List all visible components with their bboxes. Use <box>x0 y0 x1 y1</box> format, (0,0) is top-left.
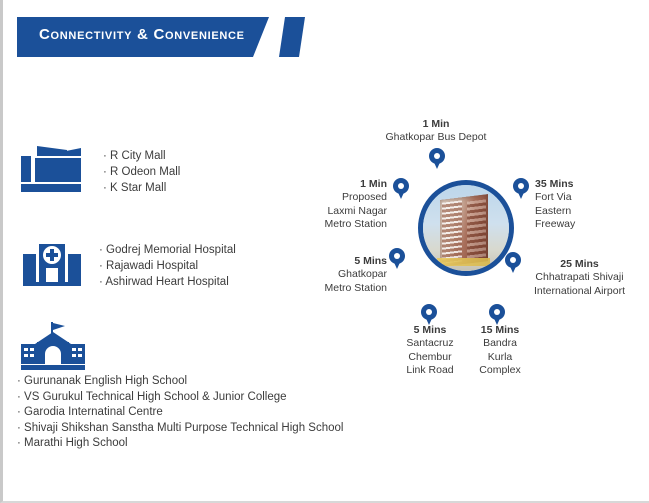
list-item: Gurunanak English High School <box>17 374 343 390</box>
map-pin-santacruz-chembur-link-road[interactable] <box>421 304 437 326</box>
pin-line: Complex <box>459 364 541 377</box>
list-item: Marathi High School <box>17 436 343 452</box>
section-header-banner: Connectivity & Convenience <box>17 17 307 57</box>
pin-line: Laxmi Nagar <box>299 205 387 218</box>
list-item: R Odeon Mall <box>103 164 180 180</box>
banner-accent-chip <box>279 17 305 57</box>
pin-time: 25 Mins <box>507 258 649 271</box>
list-item: VS Gurukul Technical High School & Junio… <box>17 390 343 406</box>
pin-line: Freeway <box>535 218 625 231</box>
pin-line: Eastern <box>535 205 625 218</box>
list-item: Shivaji Shikshan Sanstha Multi Purpose T… <box>17 421 343 437</box>
pin-line: Fort Via <box>535 191 625 204</box>
pin-line: Ghatkopar Bus Depot <box>371 131 501 144</box>
pin-line: Kurla <box>459 351 541 364</box>
pin-time: 5 Mins <box>315 255 387 268</box>
list-item: Rajawadi Hospital <box>99 258 236 274</box>
map-pin-bandra-kurla-complex[interactable] <box>489 304 505 326</box>
tower-base <box>437 258 490 266</box>
pin-label-bandra-kurla-complex: 15 Mins Bandra Kurla Complex <box>459 324 541 378</box>
tower-body <box>440 194 488 267</box>
school-icon <box>21 322 85 375</box>
pin-line: Metro Station <box>315 282 387 295</box>
page-title: Connectivity & Convenience <box>39 26 245 43</box>
pin-label-laxmi-nagar-metro: 1 Min Proposed Laxmi Nagar Metro Station <box>299 178 387 232</box>
amenity-group-malls: R City Mall R Odeon Mall K Star Mall <box>21 146 180 197</box>
pin-line: Metro Station <box>299 218 387 231</box>
school-list: Gurunanak English High School VS Gurukul… <box>17 374 343 452</box>
amenity-group-hospitals: Godrej Memorial Hospital Rajawadi Hospit… <box>23 240 236 291</box>
pin-time: 1 Min <box>371 118 501 131</box>
shopping-mall-icon <box>21 146 83 197</box>
pin-line: Chhatrapati Shivaji <box>507 271 649 284</box>
pin-label-fort-eastern-freeway: 35 Mins Fort Via Eastern Freeway <box>535 178 625 232</box>
pin-line: Bandra <box>459 337 541 350</box>
connectivity-map: 1 Min Ghatkopar Bus Depot 1 Min Proposed… <box>303 100 649 400</box>
residential-tower-photo <box>423 185 509 271</box>
pin-label-bus-depot: 1 Min Ghatkopar Bus Depot <box>371 118 501 145</box>
list-item: K Star Mall <box>103 180 180 196</box>
project-hub-photo <box>418 180 514 276</box>
pin-line: Proposed <box>299 191 387 204</box>
mall-list: R City Mall R Odeon Mall K Star Mall <box>103 148 180 196</box>
list-item: Godrej Memorial Hospital <box>99 242 236 258</box>
hospital-icon <box>23 240 81 291</box>
list-item: R City Mall <box>103 148 180 164</box>
list-item: Garodia Internatinal Centre <box>17 405 343 421</box>
map-pin-laxmi-nagar-metro[interactable] <box>393 178 409 200</box>
pin-dot <box>434 153 440 159</box>
pin-dot <box>394 253 400 259</box>
pin-time: 35 Mins <box>535 178 625 191</box>
pin-line: Ghatkopar <box>315 268 387 281</box>
pin-label-ghatkopar-metro: 5 Mins Ghatkopar Metro Station <box>315 255 387 295</box>
pin-dot <box>426 309 432 315</box>
pin-line: International Airport <box>507 285 649 298</box>
map-pin-ghatkopar-metro[interactable] <box>389 248 405 270</box>
page-root: Connectivity & Convenience R City Mall R… <box>0 0 649 503</box>
pin-time: 15 Mins <box>459 324 541 337</box>
pin-time: 1 Min <box>299 178 387 191</box>
map-pin-bus-depot[interactable] <box>429 148 445 170</box>
map-pin-fort-eastern-freeway[interactable] <box>513 178 529 200</box>
pin-dot <box>518 183 524 189</box>
pin-label-airport: 25 Mins Chhatrapati Shivaji Internationa… <box>507 258 649 298</box>
list-item: Ashirwad Heart Hospital <box>99 274 236 290</box>
pin-dot <box>398 183 404 189</box>
hospital-list: Godrej Memorial Hospital Rajawadi Hospit… <box>99 242 236 290</box>
pin-dot <box>494 309 500 315</box>
